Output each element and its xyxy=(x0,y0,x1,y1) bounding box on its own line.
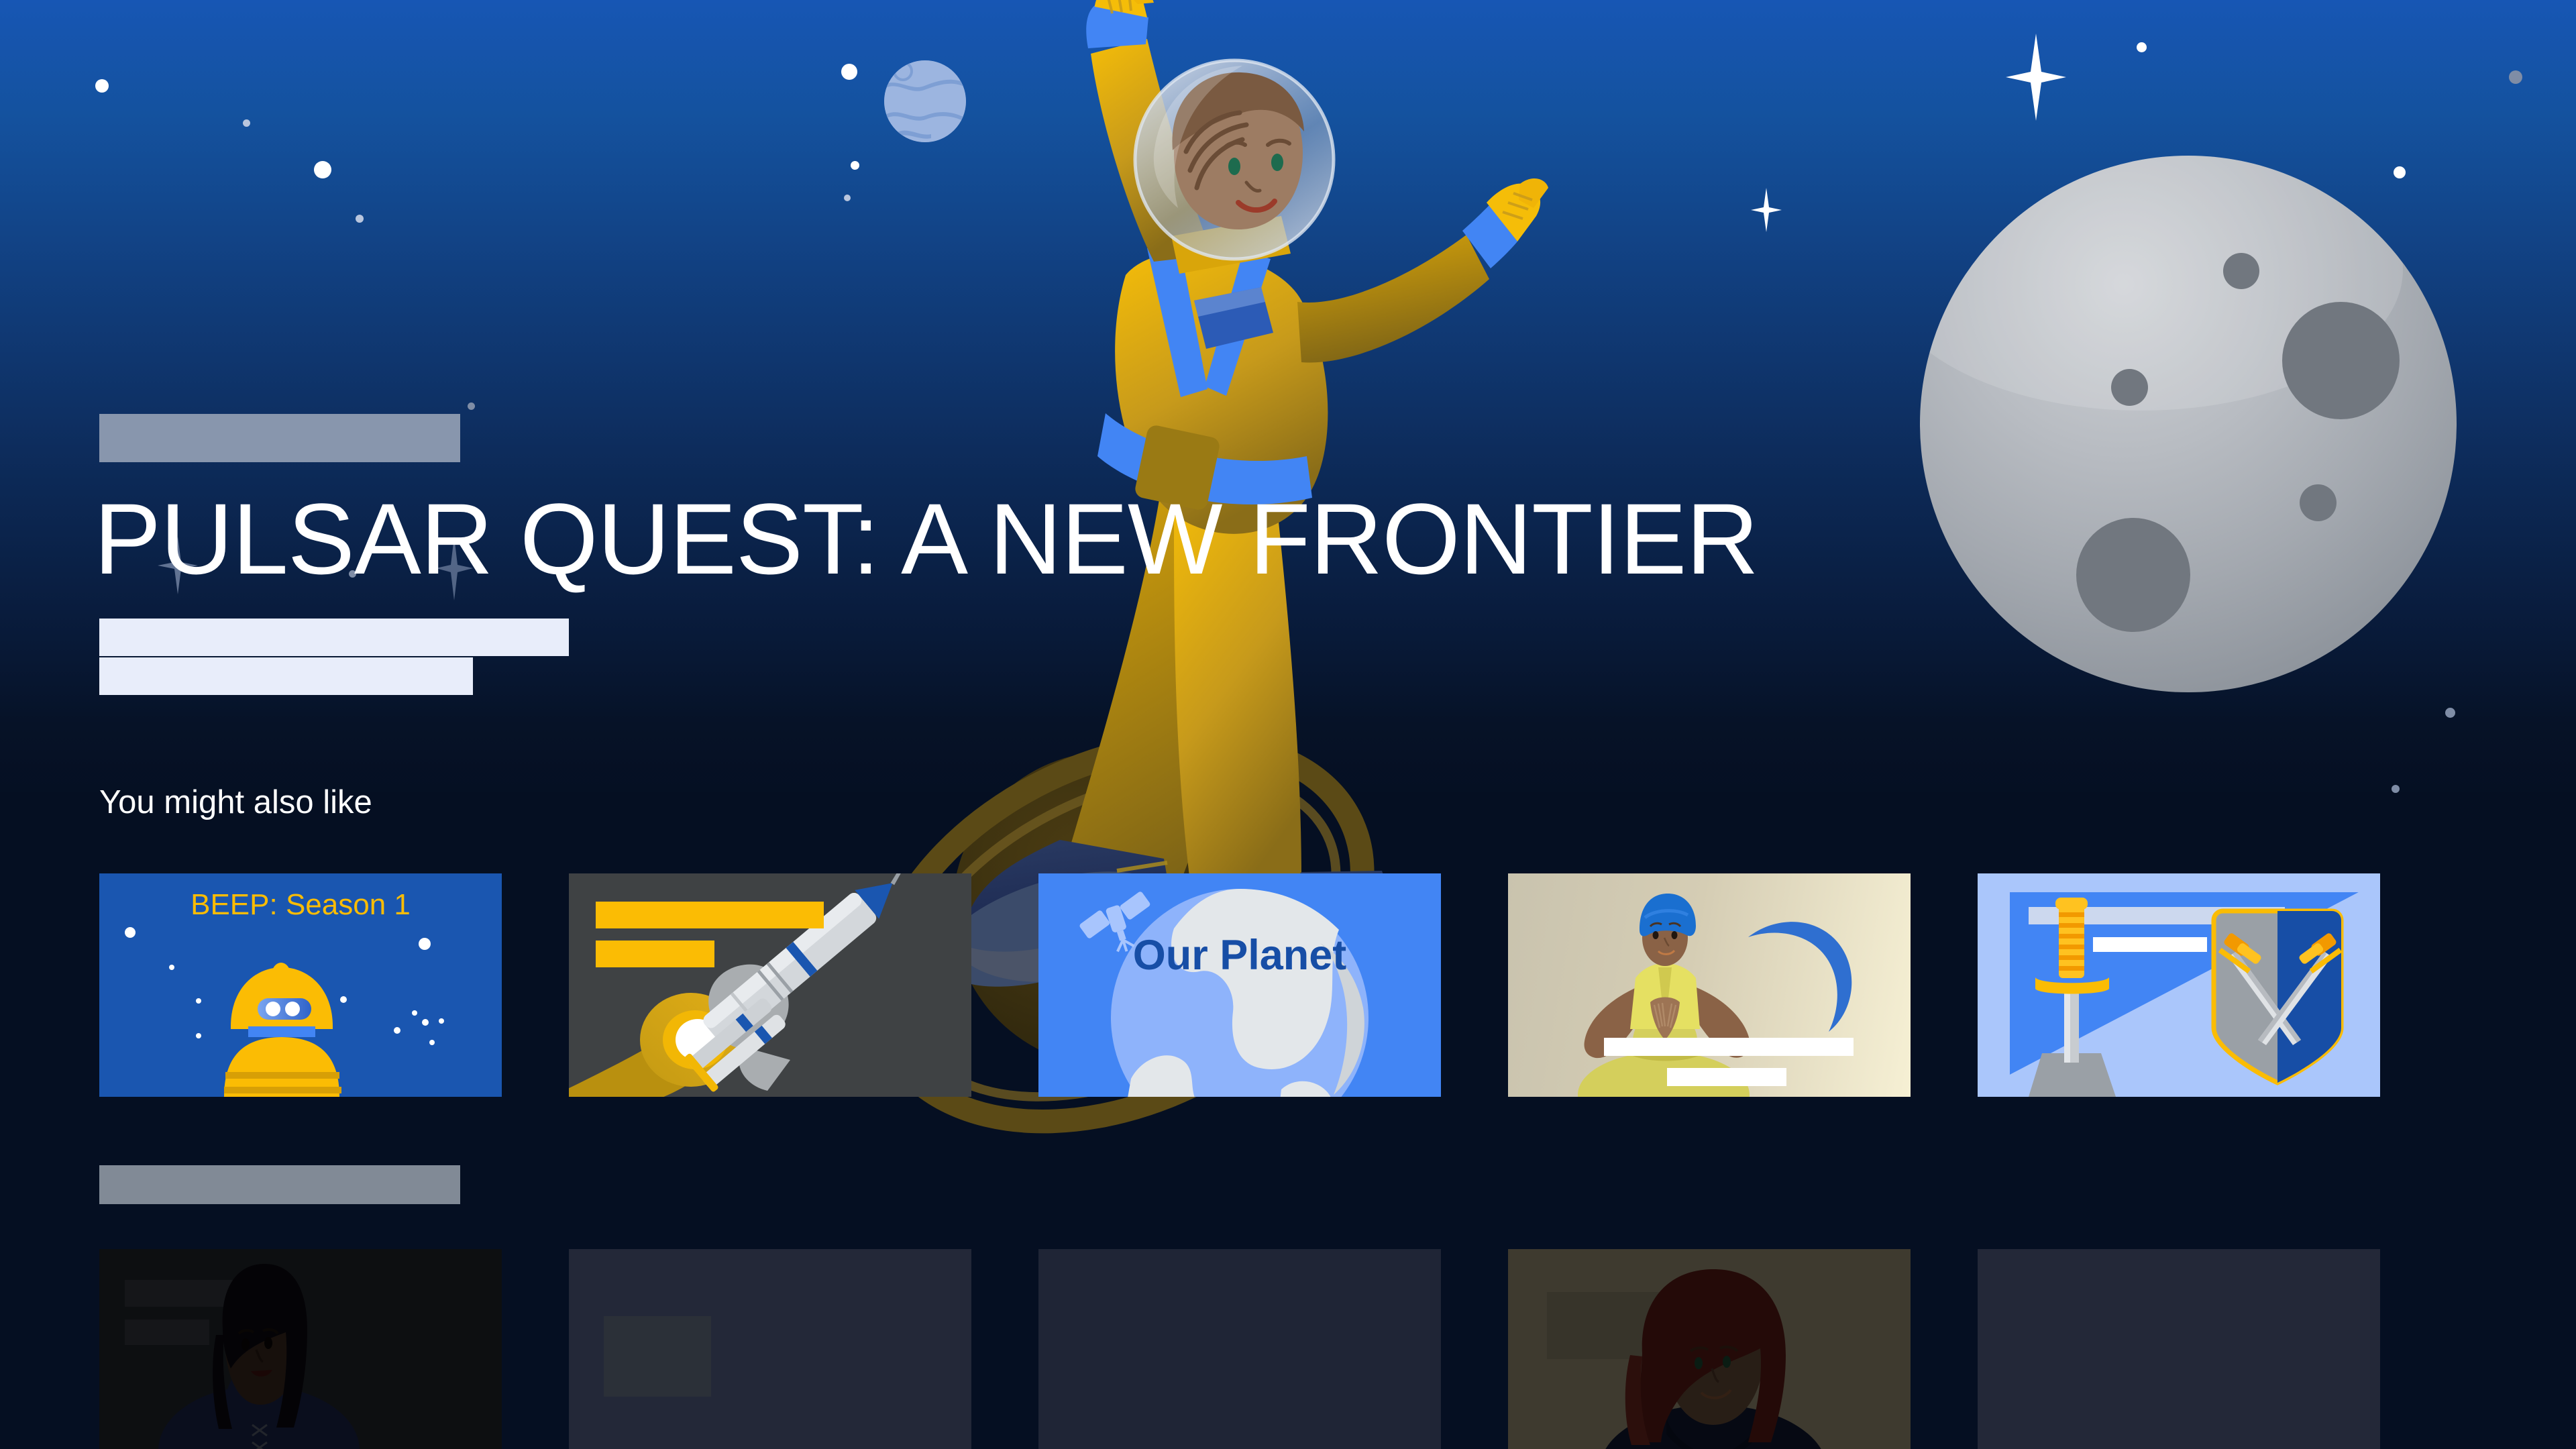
card-row2-woman-red-hair[interactable] xyxy=(1508,1249,1911,1449)
card-placeholder-bar-2 xyxy=(596,941,714,967)
card-meditation[interactable] xyxy=(1508,873,1911,1097)
moon-crater xyxy=(2300,484,2337,521)
hero-eyebrow-placeholder xyxy=(99,414,460,462)
card-placeholder-block xyxy=(604,1316,711,1397)
star-icon xyxy=(2509,70,2522,84)
recommendations-row-2 xyxy=(99,1249,2380,1449)
moon-graphic xyxy=(1920,156,2457,692)
star-icon xyxy=(2445,708,2455,718)
card-beep-season-1[interactable]: BEEP: Season 1 xyxy=(99,873,502,1097)
sparkle-icon xyxy=(1751,188,1782,232)
card-title-our-planet: Our Planet xyxy=(1038,932,1441,978)
star-icon xyxy=(841,64,857,80)
page-stage: PULSAR QUEST: A NEW FRONTIER You might a… xyxy=(0,0,2576,1449)
woman-portrait-red-hair-icon xyxy=(1508,1249,1911,1449)
card-rocket-launch[interactable] xyxy=(569,873,971,1097)
hero-subtitle-placeholder-1 xyxy=(99,619,569,656)
moon-crater xyxy=(2076,518,2190,632)
star-icon xyxy=(2137,42,2147,52)
card-placeholder-bar-1 xyxy=(1604,1038,1854,1056)
sword-in-stone-shield-icon xyxy=(1978,873,2380,1097)
star-icon xyxy=(468,402,475,410)
row-label-you-might-also-like: You might also like xyxy=(99,784,372,821)
star-icon xyxy=(314,161,331,178)
row-label-placeholder-2 xyxy=(99,1165,460,1204)
card-title-beep: BEEP: Season 1 xyxy=(99,888,502,922)
card-placeholder-bar-1 xyxy=(596,902,824,928)
meditating-woman-icon xyxy=(1508,873,1911,1097)
star-icon xyxy=(844,195,851,201)
star-icon xyxy=(2394,166,2406,178)
card-placeholder-bar-2 xyxy=(1667,1068,1786,1086)
sparkle-icon xyxy=(2006,34,2066,121)
moon-crater xyxy=(2282,302,2400,419)
star-icon xyxy=(243,119,250,127)
page-title: PULSAR QUEST: A NEW FRONTIER xyxy=(94,488,1758,589)
woman-portrait-icon xyxy=(99,1249,502,1449)
card-our-planet[interactable]: Our Planet xyxy=(1038,873,1441,1097)
moon-crater xyxy=(2111,369,2148,406)
card-row2-woman-dark-hair[interactable] xyxy=(99,1249,502,1449)
card-row2-placeholder-1[interactable] xyxy=(569,1249,971,1449)
star-icon xyxy=(95,79,109,93)
recommendations-row-1: BEEP: Season 1 xyxy=(99,873,2380,1097)
star-icon xyxy=(2392,785,2400,793)
hero-subtitle-placeholder-2 xyxy=(99,657,473,695)
card-sword-shield[interactable] xyxy=(1978,873,2380,1097)
globe-satellite-icon xyxy=(1038,873,1441,1097)
moon-crater xyxy=(2223,253,2259,289)
card-row2-placeholder-2[interactable] xyxy=(1038,1249,1441,1449)
star-icon xyxy=(356,215,364,223)
card-row2-placeholder-3[interactable] xyxy=(1978,1249,2380,1449)
